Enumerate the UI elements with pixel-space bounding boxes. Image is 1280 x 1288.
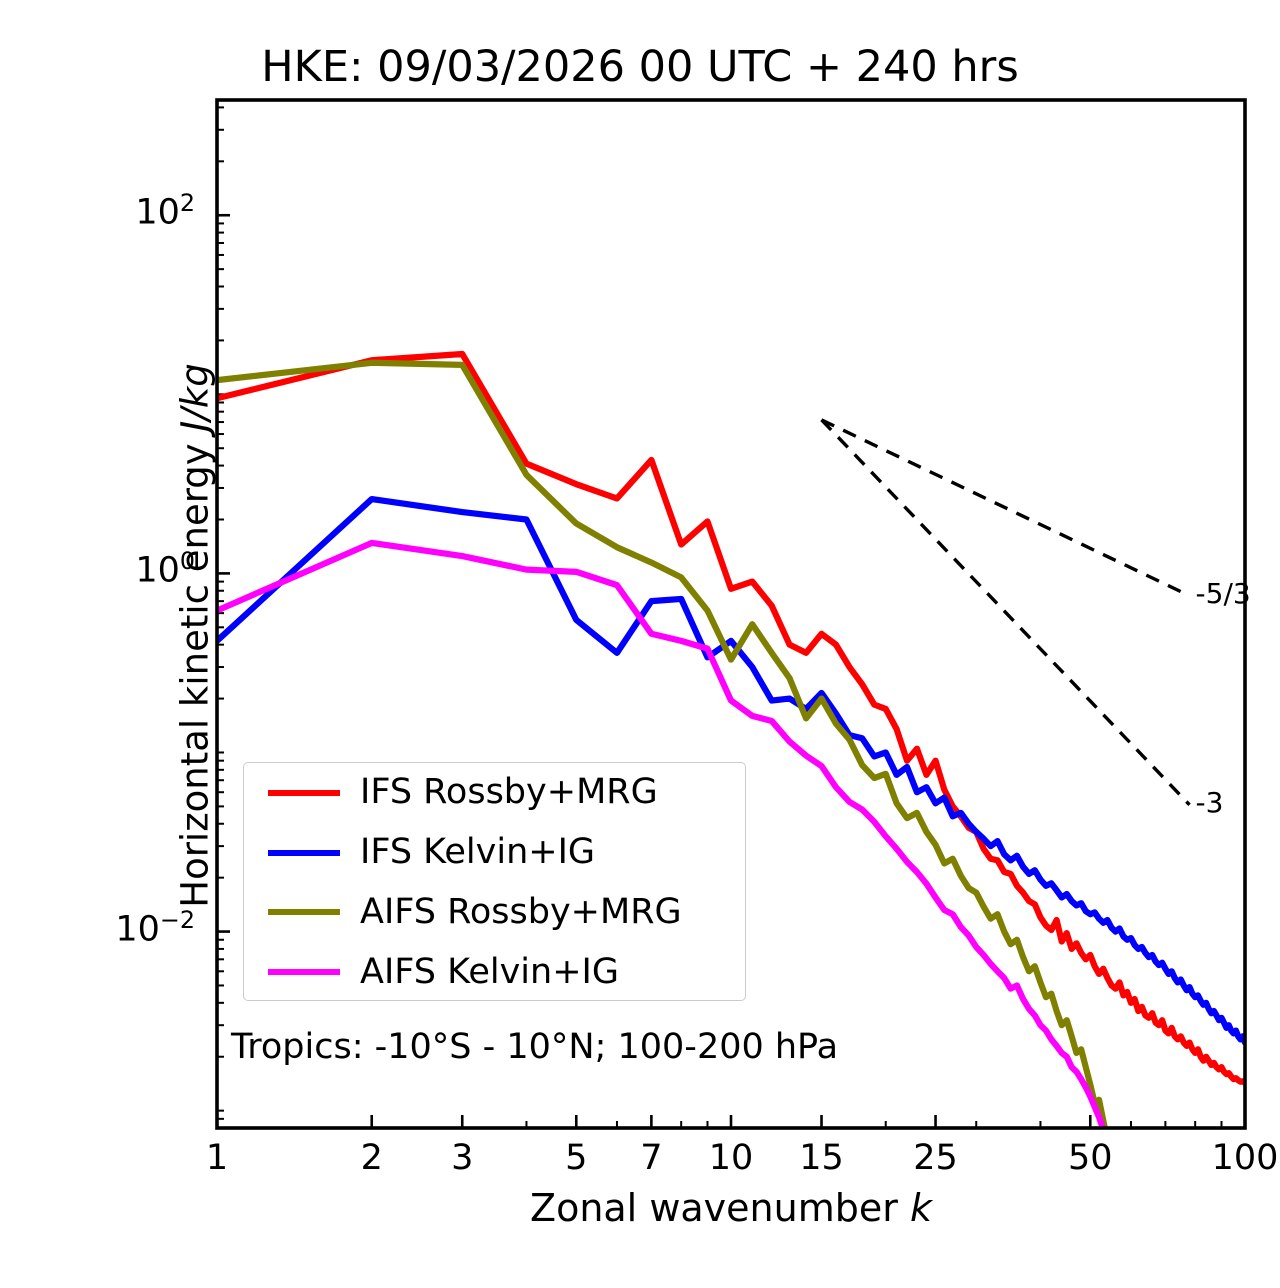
y-tick-label: 102 [0,189,195,233]
x-tick-label: 1 [157,1138,277,1178]
legend-item[interactable]: AIFS Rossby+MRG [244,883,745,943]
legend-item-label: IFS Kelvin+IG [360,835,595,870]
x-tick-label: 3 [402,1138,522,1178]
legend-color-swatch [268,790,340,796]
legend-item-label: IFS Rossby+MRG [360,775,658,810]
slope-label-three: -3 [1196,786,1224,819]
chart-legend: IFS Rossby+MRGIFS Kelvin+IGAIFS Rossby+M… [243,762,746,1001]
x-tick-label: 100 [1185,1138,1280,1178]
legend-color-swatch [268,969,340,975]
slope-label-five-thirds: -5/3 [1196,577,1251,610]
y-tick-label: 100 [0,547,195,591]
legend-item-label: AIFS Kelvin+IG [360,955,619,990]
legend-color-swatch [268,850,340,856]
x-tick-label: 50 [1030,1138,1150,1178]
legend-item[interactable]: IFS Rossby+MRG [244,763,745,823]
x-tick-label: 25 [876,1138,996,1178]
slope-line-five-thirds [822,420,1190,596]
slope-line-three [822,420,1190,805]
legend-item[interactable]: AIFS Kelvin+IG [244,942,745,1002]
legend-item[interactable]: IFS Kelvin+IG [244,823,745,883]
y-tick-label: 10−2 [0,906,195,950]
legend-color-swatch [268,909,340,915]
slope-reference-lines [822,420,1190,805]
legend-item-label: AIFS Rossby+MRG [360,895,682,930]
chart-figure: HKE: 09/03/2026 00 UTC + 240 hrs Horizon… [0,0,1280,1288]
x-tick-label: 15 [762,1138,882,1178]
region-annotation: Tropics: -10°S - 10°N; 100-200 hPa [231,1027,838,1067]
